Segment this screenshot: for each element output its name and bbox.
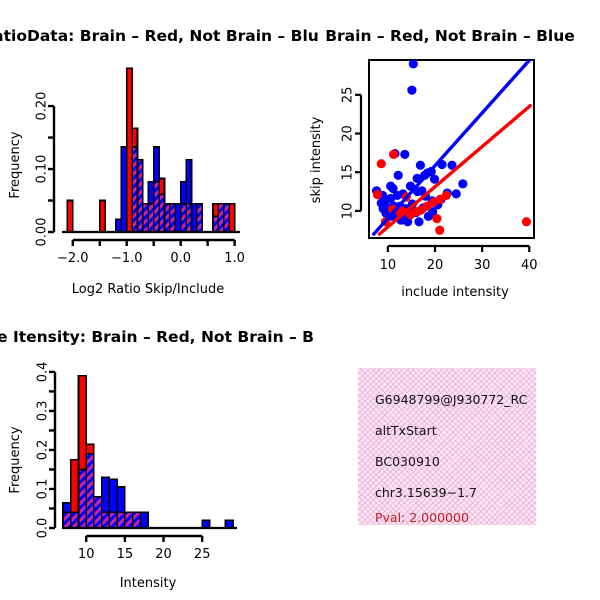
svg-text:1.0: 1.0 <box>224 251 245 266</box>
svg-text:20: 20 <box>155 547 172 562</box>
ratio-histogram-bars <box>67 68 234 232</box>
svg-text:10: 10 <box>78 547 95 562</box>
ratio-histogram-svg: RatioData: Brain – Red, Not Brain – Blu … <box>0 0 300 310</box>
svg-text:15: 15 <box>117 547 134 562</box>
svg-text:0.00: 0.00 <box>35 218 50 247</box>
locus-text: chr3.15639−1.7 <box>375 485 477 500</box>
intensity-histogram-title: ne Itensity: Brain – Red, Not Brain – B <box>0 328 314 346</box>
ratio-histogram-ylabel: Frequency <box>8 131 23 198</box>
scatter-svg: Brain – Red, Not Brain – Blue 1015202510… <box>300 0 600 310</box>
svg-text:15: 15 <box>341 164 356 181</box>
scatter-xlabel: include intensity <box>401 285 509 300</box>
intensity-histogram-xlabel: Intensity <box>120 576 177 591</box>
accession-text: BC030910 <box>375 454 440 469</box>
scatter-title: Brain – Red, Not Brain – Blue <box>325 27 575 45</box>
svg-text:20: 20 <box>427 258 444 273</box>
ratio-histogram-xlabel: Log2 Ratio Skip/Include <box>72 282 224 297</box>
svg-text:0.10: 0.10 <box>35 155 50 184</box>
pval-text: Pval: 2.000000 <box>375 510 469 525</box>
scatter-points <box>369 58 534 238</box>
intensity-histogram-axes: 0.00.10.20.30.410152025 <box>36 362 238 562</box>
ratio-histogram-title: RatioData: Brain – Red, Not Brain – Blu <box>0 27 319 45</box>
svg-text:40: 40 <box>521 258 538 273</box>
intensity-histogram-svg: ne Itensity: Brain – Red, Not Brain – B … <box>0 310 300 600</box>
panel-ratio-histogram: RatioData: Brain – Red, Not Brain – Blu … <box>0 0 300 310</box>
svg-text:−2.0: −2.0 <box>57 251 89 266</box>
probe-info-panel: G6948799@J930772_RC altTxStart BC030910 … <box>358 368 536 525</box>
svg-text:0.0: 0.0 <box>170 251 191 266</box>
svg-text:25: 25 <box>194 547 211 562</box>
intensity-histogram-ylabel: Frequency <box>8 426 23 493</box>
scatter-ylabel: skip intensity <box>309 116 324 203</box>
probe-id-text: G6948799@J930772_RC <box>375 392 527 407</box>
svg-text:30: 30 <box>474 258 491 273</box>
svg-text:−1.0: −1.0 <box>111 251 143 266</box>
intensity-histogram-bars <box>63 376 233 528</box>
svg-text:10: 10 <box>341 203 356 220</box>
panel-intensity-histogram: ne Itensity: Brain – Red, Not Brain – B … <box>0 310 300 600</box>
panel-scatter: Brain – Red, Not Brain – Blue 1015202510… <box>300 0 600 310</box>
svg-text:0.1: 0.1 <box>36 479 51 500</box>
svg-text:0.2: 0.2 <box>36 440 51 461</box>
figure-canvas: RatioData: Brain – Red, Not Brain – Blu … <box>0 0 600 600</box>
svg-text:10: 10 <box>380 258 397 273</box>
svg-text:0.3: 0.3 <box>36 401 51 422</box>
svg-text:0.20: 0.20 <box>35 92 50 121</box>
event-type-text: altTxStart <box>375 423 437 438</box>
svg-text:0.4: 0.4 <box>36 362 51 383</box>
svg-text:0.0: 0.0 <box>36 518 51 539</box>
svg-text:20: 20 <box>341 125 356 142</box>
svg-text:25: 25 <box>341 87 356 104</box>
